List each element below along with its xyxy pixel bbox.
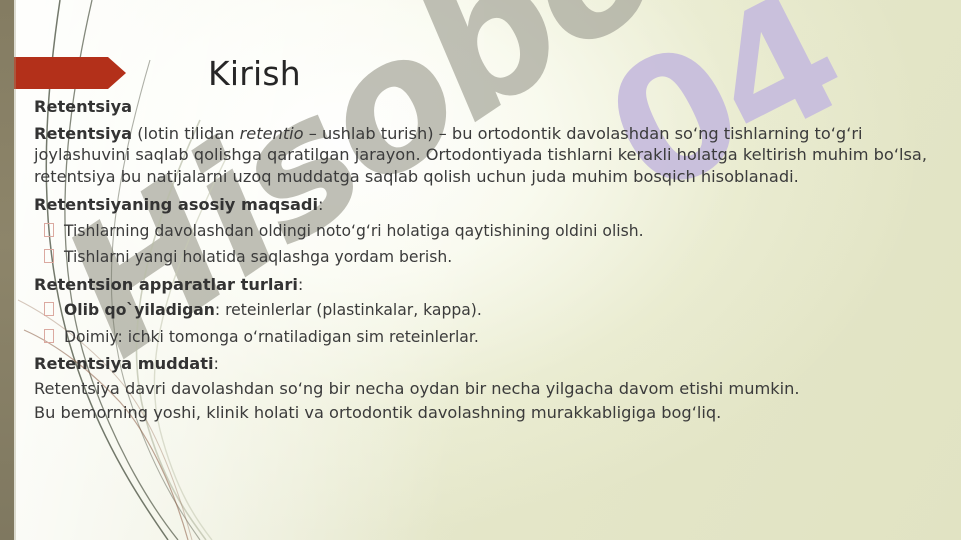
- bullet-block-heading-retentsiya: Retentsiya: [0, 96, 945, 118]
- bullet-marker-icon: [44, 302, 54, 316]
- bullet-body-text: Tishlarning davolashdan oldingi noto‘g‘r…: [64, 222, 644, 240]
- bullet-marker-icon: [44, 329, 54, 343]
- bullet-lead-text: Retentsiya: [34, 124, 132, 143]
- paragraph-text: Bu bemorning yoshi, klinik holati va ort…: [34, 403, 721, 422]
- bullet-block-muddati-heading: Retentsiya muddati:: [0, 353, 945, 375]
- bullet-body-text: :: [298, 275, 303, 294]
- bullet-block-maqsadi-heading: Retentsiyaning asosiy maqsadi:: [0, 194, 945, 216]
- definition-pre-italic: (lotin tilidan: [132, 124, 240, 143]
- bullet-body-text: Doimiy: ichki tomonga o‘rnatiladigan sim…: [64, 328, 479, 346]
- bullet-body-text: :: [318, 195, 323, 214]
- bullet-block-maqsadi-1: Tishlarning davolashdan oldingi noto‘g‘r…: [0, 221, 945, 243]
- bullet-block-turlari-heading: Retentsion apparatlar turlari:: [0, 274, 945, 296]
- definition-italic-term: retentio: [240, 124, 304, 143]
- bullet-marker-icon: [44, 249, 54, 263]
- bullet-lead-text: Retentsiyaning asosiy maqsadi: [34, 195, 318, 214]
- bullet-body-text: :: [214, 354, 219, 373]
- bullet-lead-text: Retentsiya muddati: [34, 354, 214, 373]
- bullet-lead-text: Olib qo`yiladigan: [64, 301, 215, 319]
- slide-title: Kirish: [208, 54, 301, 93]
- bullet-block-turlari-1: Olib qo`yiladigan: reteinlerlar (plastin…: [0, 300, 945, 322]
- left-accent-stripe-edge: [14, 0, 16, 540]
- presentation-slide: Hisobot 04 Kirish Retentsiya Retentsiya …: [0, 0, 961, 540]
- left-accent-stripe: [0, 0, 14, 540]
- bullet-lead-text: Retentsiya: [34, 97, 132, 116]
- paragraph-text: Retentsiya davri davolashdan so‘ng bir n…: [34, 379, 800, 398]
- bullet-block-turlari-2: Doimiy: ichki tomonga o‘rnatiladigan sim…: [0, 327, 945, 349]
- text-block-muddati-body-1: Retentsiya davri davolashdan so‘ng bir n…: [0, 378, 945, 400]
- red-arrow-banner: [0, 57, 126, 89]
- bullet-body-text: : reteinlerlar (plastinkalar, kappa).: [215, 301, 482, 319]
- bullet-body-text: Tishlarni yangi holatida saqlashga yorda…: [64, 248, 452, 266]
- text-block-muddati-body-2: Bu bemorning yoshi, klinik holati va ort…: [0, 402, 945, 424]
- slide-body: Retentsiya Retentsiya (lotin tilidan ret…: [0, 96, 945, 426]
- bullet-block-maqsadi-2: Tishlarni yangi holatida saqlashga yorda…: [0, 247, 945, 269]
- bullet-block-definition: Retentsiya (lotin tilidan retentio – ush…: [0, 123, 945, 188]
- bullet-lead-text: Retentsion apparatlar turlari: [34, 275, 298, 294]
- bullet-marker-icon: [44, 223, 54, 237]
